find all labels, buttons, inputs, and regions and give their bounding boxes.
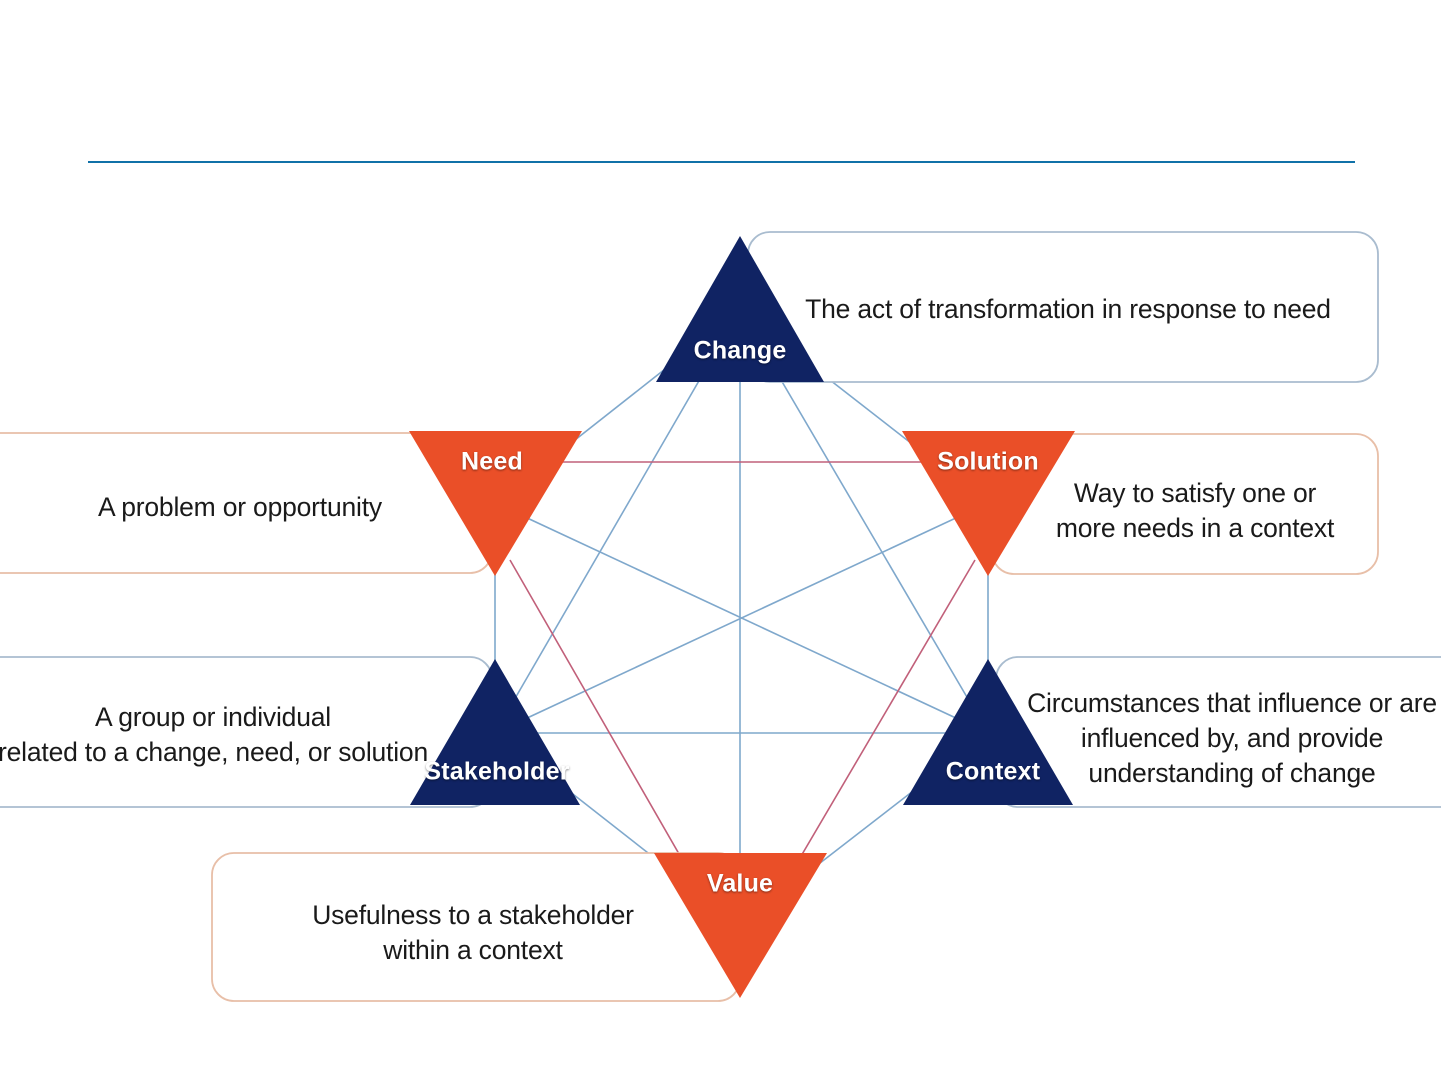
node-label-need[interactable]: Need	[461, 448, 523, 477]
callout-text-context: Circumstances that influence or are infl…	[1022, 686, 1441, 791]
node-label-context[interactable]: Context	[946, 758, 1040, 787]
node-label-solution[interactable]: Solution	[937, 448, 1039, 477]
node-label-change[interactable]: Change	[694, 337, 787, 366]
callout-text-change: The act of transformation in response to…	[798, 292, 1338, 327]
diagram-canvas: Change Need Solution Stakeholder Context…	[0, 0, 1441, 1081]
callout-text-stakeholder: A group or individual related to a chang…	[0, 700, 448, 770]
node-label-value[interactable]: Value	[707, 870, 773, 899]
callout-text-value: Usefulness to a stakeholder within a con…	[248, 898, 698, 968]
node-label-stakeholder[interactable]: Stakeholder	[424, 758, 569, 787]
callout-text-solution: Way to satisfy one or more needs in a co…	[1030, 476, 1360, 546]
callout-text-need: A problem or opportunity	[20, 490, 460, 525]
